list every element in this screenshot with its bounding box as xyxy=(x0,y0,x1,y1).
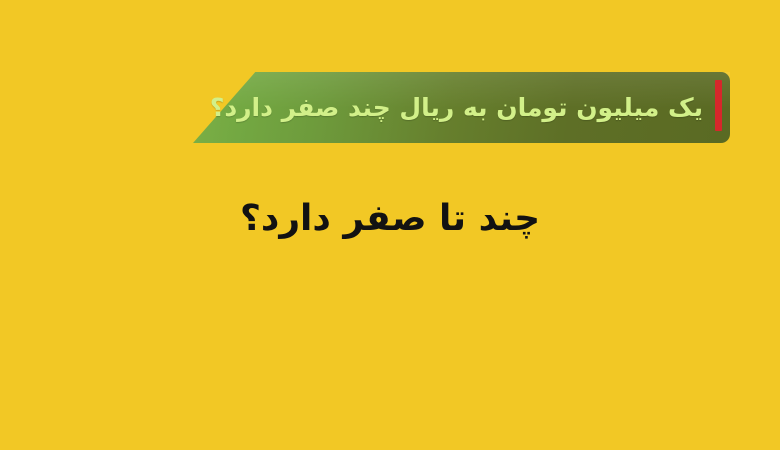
poster-canvas: یک میلیون تومان به ریال چند صفر دارد؟ چن… xyxy=(0,0,780,450)
sub-headline: چند تا صفر دارد؟ xyxy=(0,196,780,243)
red-accent-bar xyxy=(715,80,722,131)
banner-headline: یک میلیون تومان به ریال چند صفر دارد؟ xyxy=(193,72,711,143)
